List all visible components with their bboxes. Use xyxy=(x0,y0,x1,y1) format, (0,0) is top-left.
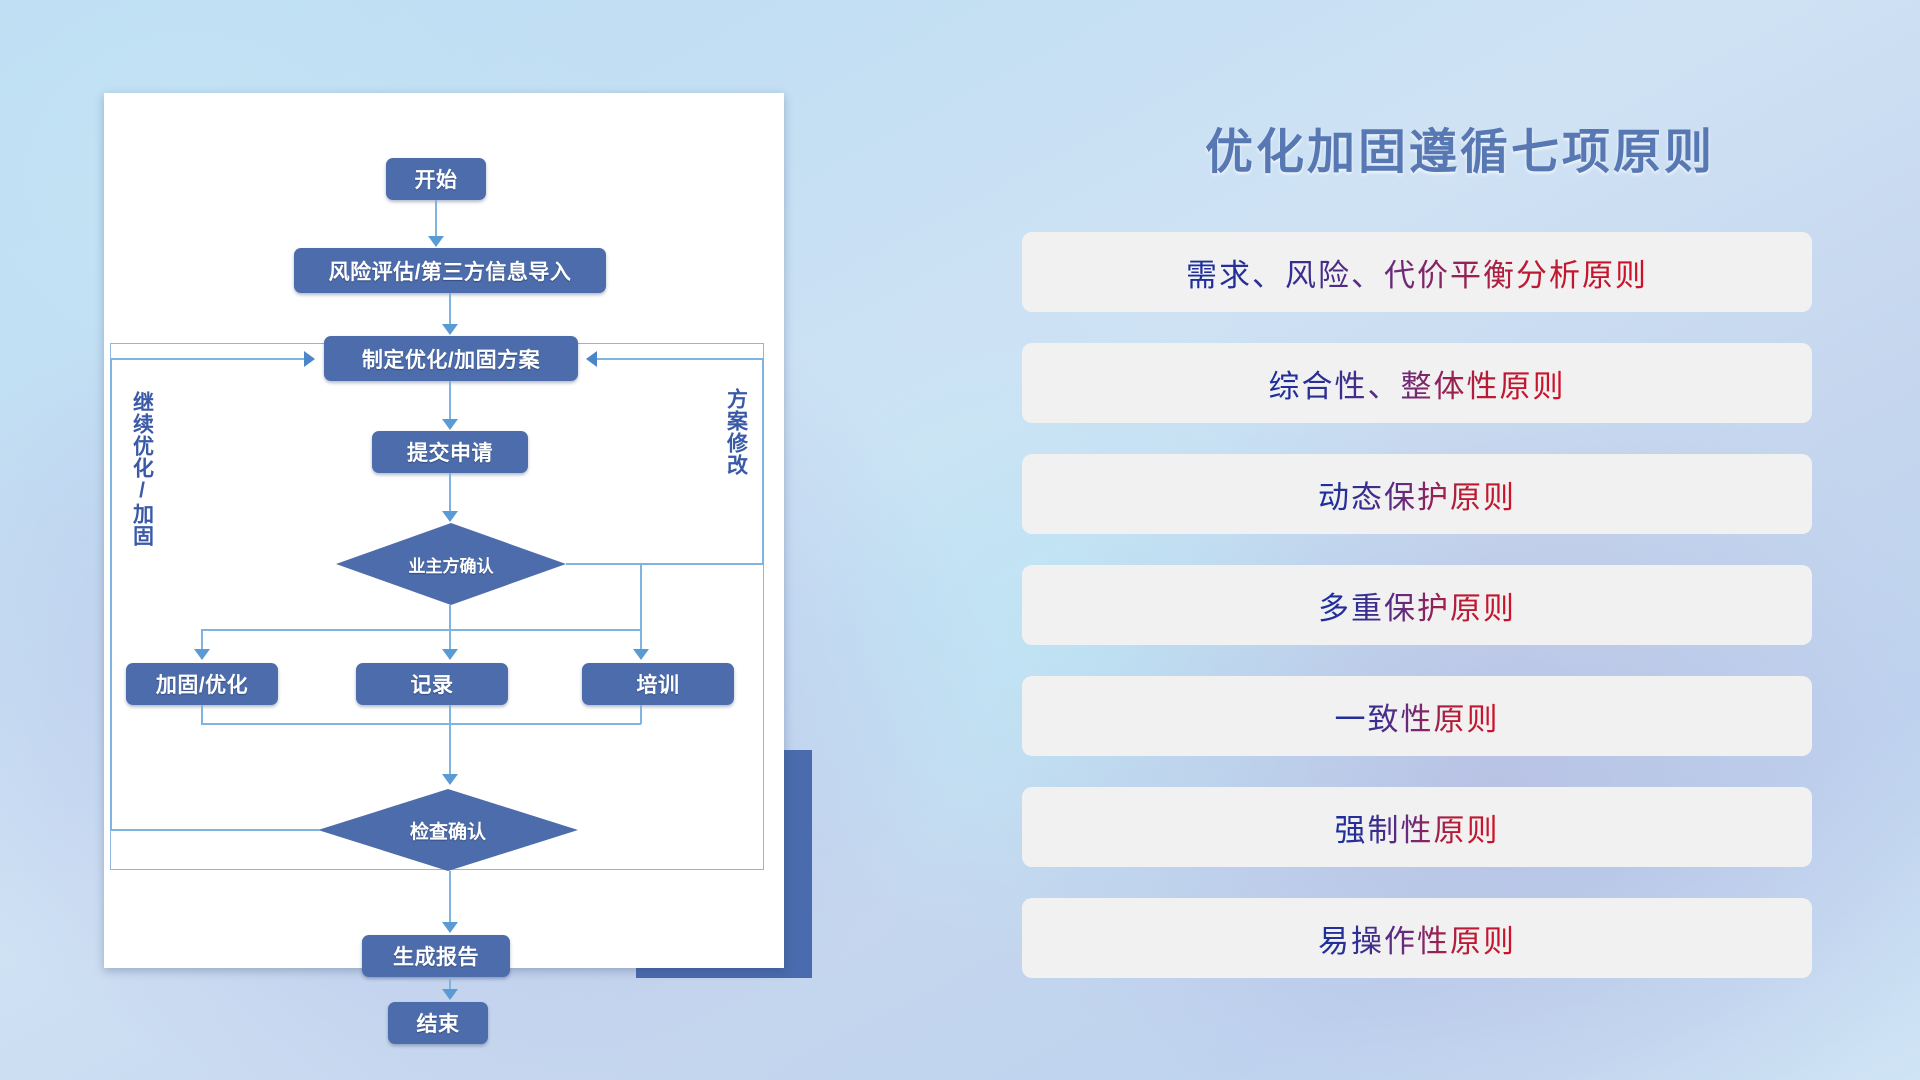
arrow-left-icon xyxy=(586,351,597,367)
connector-owner-right-exit xyxy=(566,563,641,565)
flow-node-risk-assessment-label: 风险评估/第三方信息导入 xyxy=(329,256,572,286)
connector-right-rail xyxy=(762,358,764,564)
principle-card-2[interactable]: 综合性、整体性原则 xyxy=(1022,343,1812,423)
principle-label-6: 强制性原则 xyxy=(1335,805,1500,850)
connector-check-report xyxy=(449,871,451,923)
arrow-down-icon xyxy=(633,649,649,660)
principle-label-2: 综合性、整体性原则 xyxy=(1269,361,1566,406)
connector-reinforce-to-bus xyxy=(201,705,203,724)
flow-node-training-label: 培训 xyxy=(637,669,680,699)
connector-training-to-bus xyxy=(640,705,642,724)
flow-node-end-label: 结束 xyxy=(417,1008,460,1038)
edge-label-plan-revision: 方案修改 xyxy=(724,388,748,476)
connector-check-left-exit xyxy=(110,829,320,831)
page-title: 优化加固遵循七项原则 xyxy=(1020,112,1900,182)
principle-label-4: 多重保护原则 xyxy=(1318,583,1516,628)
connector-owner-bus-left-drop xyxy=(201,629,203,651)
flow-node-training[interactable]: 培训 xyxy=(582,663,734,705)
arrow-down-icon xyxy=(442,922,458,933)
flow-node-record-label: 记录 xyxy=(411,669,454,699)
flow-node-report[interactable]: 生成报告 xyxy=(362,935,510,977)
flow-node-plan[interactable]: 制定优化/加固方案 xyxy=(324,336,578,381)
connector-submit-owner xyxy=(449,473,451,511)
flow-node-reinforce[interactable]: 加固/优化 xyxy=(126,663,278,705)
arrow-down-icon xyxy=(442,989,458,1000)
principle-card-3[interactable]: 动态保护原则 xyxy=(1022,454,1812,534)
principle-card-4[interactable]: 多重保护原则 xyxy=(1022,565,1812,645)
flow-node-start-label: 开始 xyxy=(415,164,458,194)
connector-start-risk xyxy=(435,200,437,237)
flow-node-risk-assessment[interactable]: 风险评估/第三方信息导入 xyxy=(294,248,606,293)
flow-node-reinforce-label: 加固/优化 xyxy=(156,669,248,699)
edge-label-continue-optimize: 继续优化/加固 xyxy=(130,391,154,547)
connector-right-rail-into-plan xyxy=(596,358,764,360)
connector-right-rail-bottom xyxy=(640,563,764,565)
principle-list: 需求、风险、代价平衡分析原则 综合性、整体性原则 动态保护原则 多重保护原则 一… xyxy=(1022,232,1812,1009)
principle-label-7: 易操作性原则 xyxy=(1318,916,1516,961)
flowchart-card: 开始 风险评估/第三方信息导入 制定优化/加固方案 提交申请 业主方确认 加固/… xyxy=(104,93,784,968)
arrow-down-icon xyxy=(442,649,458,660)
connector-record-to-bus xyxy=(449,705,451,724)
principle-label-1: 需求、风险、代价平衡分析原则 xyxy=(1186,250,1648,295)
flow-node-record[interactable]: 记录 xyxy=(356,663,508,705)
flow-node-owner-confirm[interactable]: 业主方确认 xyxy=(336,523,566,605)
connector-owner-split-bus xyxy=(201,629,641,631)
connector-left-rail-into-plan xyxy=(110,358,305,360)
flow-node-report-label: 生成报告 xyxy=(393,941,479,971)
flow-node-submit-label: 提交申请 xyxy=(407,437,493,467)
flow-node-owner-confirm-label: 业主方确认 xyxy=(409,552,494,577)
arrow-down-icon xyxy=(194,649,210,660)
principle-card-6[interactable]: 强制性原则 xyxy=(1022,787,1812,867)
principle-label-5: 一致性原则 xyxy=(1335,694,1500,739)
connector-owner-right-riser xyxy=(640,563,642,629)
flow-node-plan-label: 制定优化/加固方案 xyxy=(362,344,540,374)
arrow-down-icon xyxy=(428,236,444,247)
principle-card-1[interactable]: 需求、风险、代价平衡分析原则 xyxy=(1022,232,1812,312)
connector-plan-submit xyxy=(449,381,451,419)
connector-owner-record xyxy=(449,605,451,651)
arrow-down-icon xyxy=(442,774,458,785)
flow-node-submit[interactable]: 提交申请 xyxy=(372,431,528,473)
connector-merge-bus xyxy=(201,723,641,725)
arrow-down-icon xyxy=(442,511,458,522)
principle-label-3: 动态保护原则 xyxy=(1318,472,1516,517)
connector-left-rail xyxy=(110,358,112,830)
flow-node-check-confirm[interactable]: 检查确认 xyxy=(318,789,578,871)
principle-card-5[interactable]: 一致性原则 xyxy=(1022,676,1812,756)
connector-bus-check xyxy=(449,723,451,775)
connector-owner-bus-right-drop xyxy=(640,629,642,651)
arrow-right-icon xyxy=(304,351,315,367)
arrow-down-icon xyxy=(442,324,458,335)
flow-node-end[interactable]: 结束 xyxy=(388,1002,488,1044)
connector-risk-plan xyxy=(449,293,451,325)
flow-node-start[interactable]: 开始 xyxy=(386,158,486,200)
arrow-down-icon xyxy=(442,419,458,430)
slide-canvas: 开始 风险评估/第三方信息导入 制定优化/加固方案 提交申请 业主方确认 加固/… xyxy=(0,0,1920,1080)
flow-node-check-confirm-label: 检查确认 xyxy=(410,817,486,844)
principle-card-7[interactable]: 易操作性原则 xyxy=(1022,898,1812,978)
